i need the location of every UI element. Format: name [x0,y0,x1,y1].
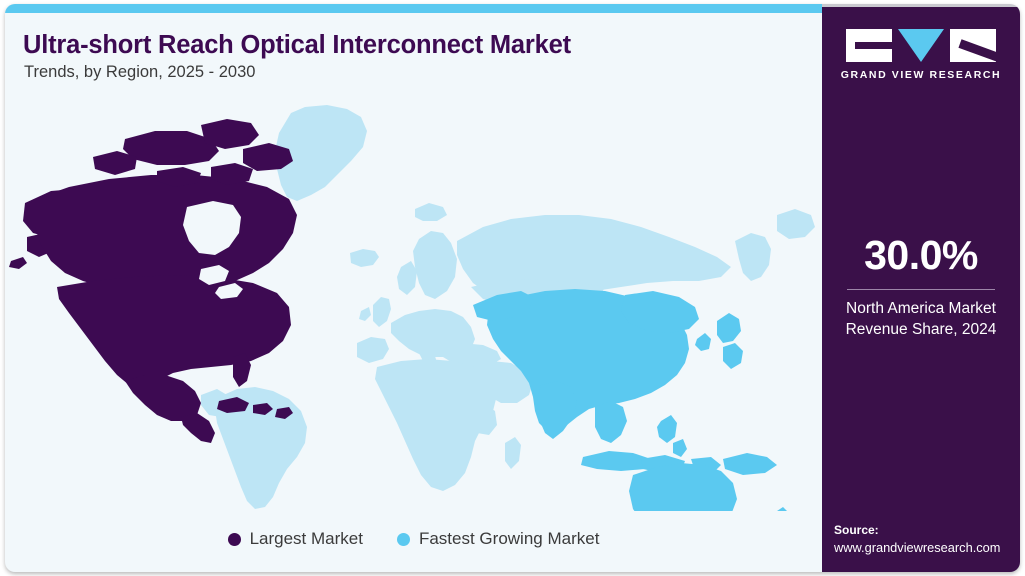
source-url[interactable]: www.grandviewresearch.com [834,539,1000,558]
stat-caption-line2: Revenue Share, 2024 [822,320,1020,341]
stat-block: 30.0% North America Market Revenue Share… [822,235,1020,341]
chart-pane: Ultra-short Reach Optical Interconnect M… [5,13,822,572]
legend-dot-dark-icon [228,533,241,546]
world-map [5,91,822,511]
legend-label: Largest Market [250,529,363,549]
accent-top-bar [5,4,822,13]
infographic-card: Ultra-short Reach Optical Interconnect M… [5,4,1020,572]
source-label: Source: [834,522,1000,539]
logo-letter-v-icon [898,29,944,62]
stats-panel: GRAND VIEW RESEARCH 30.0% North America … [822,7,1020,572]
legend: Largest Market Fastest Growing Market [5,529,822,549]
logo-marks [846,29,996,62]
stat-caption-line1: North America Market [822,299,1020,320]
page-subtitle: Trends, by Region, 2025 - 2030 [24,63,255,82]
logo-wordmark: GRAND VIEW RESEARCH [841,69,1002,81]
legend-label: Fastest Growing Market [419,529,599,549]
legend-dot-blue-icon [397,533,410,546]
legend-item-largest-market[interactable]: Largest Market [228,529,363,549]
brand-logo[interactable]: GRAND VIEW RESEARCH [822,29,1020,81]
logo-letter-g-icon [846,29,892,62]
legend-item-fastest-growing-market[interactable]: Fastest Growing Market [397,529,599,549]
stat-divider [847,289,995,290]
source-block: Source: www.grandviewresearch.com [834,522,1000,558]
stat-value: 30.0% [822,235,1020,276]
world-map-svg [5,91,822,511]
logo-letter-r-icon [950,29,996,62]
page-title: Ultra-short Reach Optical Interconnect M… [23,31,571,60]
